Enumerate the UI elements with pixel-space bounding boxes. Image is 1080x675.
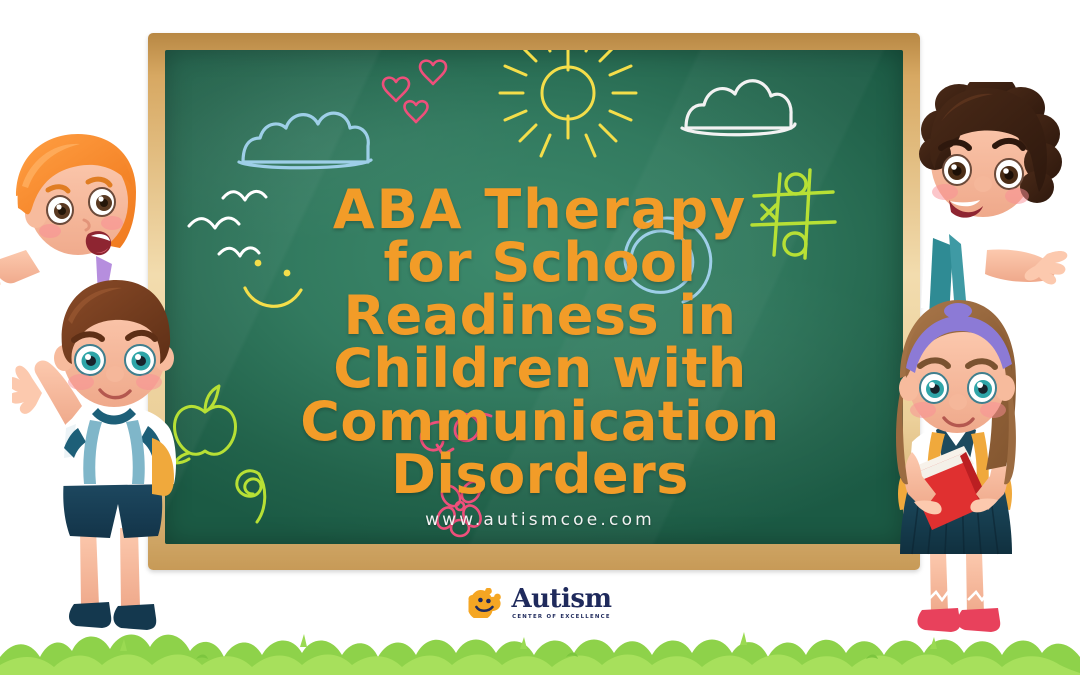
headline-line-5: Communication	[160, 396, 920, 449]
poster-canvas: ABA Therapy for School Readiness in Chil…	[0, 0, 1080, 675]
headline-line-4: Children with	[160, 343, 920, 396]
headline-line-2: for School	[160, 237, 920, 290]
child-girl-headband	[858, 292, 1058, 652]
logo-text-block: Autism CENTER OF EXCELLENCE	[511, 586, 611, 620]
cloud-white-doodle	[682, 81, 795, 135]
sun-yellow-doodle	[500, 50, 636, 156]
puzzle-smiley-icon	[468, 588, 504, 618]
website-url[interactable]: www.autismcoe.com	[425, 510, 655, 530]
child-boy-curly-hair	[905, 82, 1080, 312]
hearts-pink-doodle	[383, 61, 446, 122]
headline-line-1: ABA Therapy	[160, 184, 920, 237]
grass-strip	[0, 617, 1080, 675]
logo-name: Autism	[511, 586, 611, 612]
cloud-blue-doodle	[239, 113, 371, 168]
headline-line-6: Disorders	[160, 449, 920, 502]
child-boy-brown-hair	[12, 278, 222, 648]
brand-logo[interactable]: Autism CENTER OF EXCELLENCE	[468, 586, 611, 620]
headline-line-3: Readiness in	[160, 290, 920, 343]
poster-headline: ABA Therapy for School Readiness in Chil…	[160, 184, 920, 501]
